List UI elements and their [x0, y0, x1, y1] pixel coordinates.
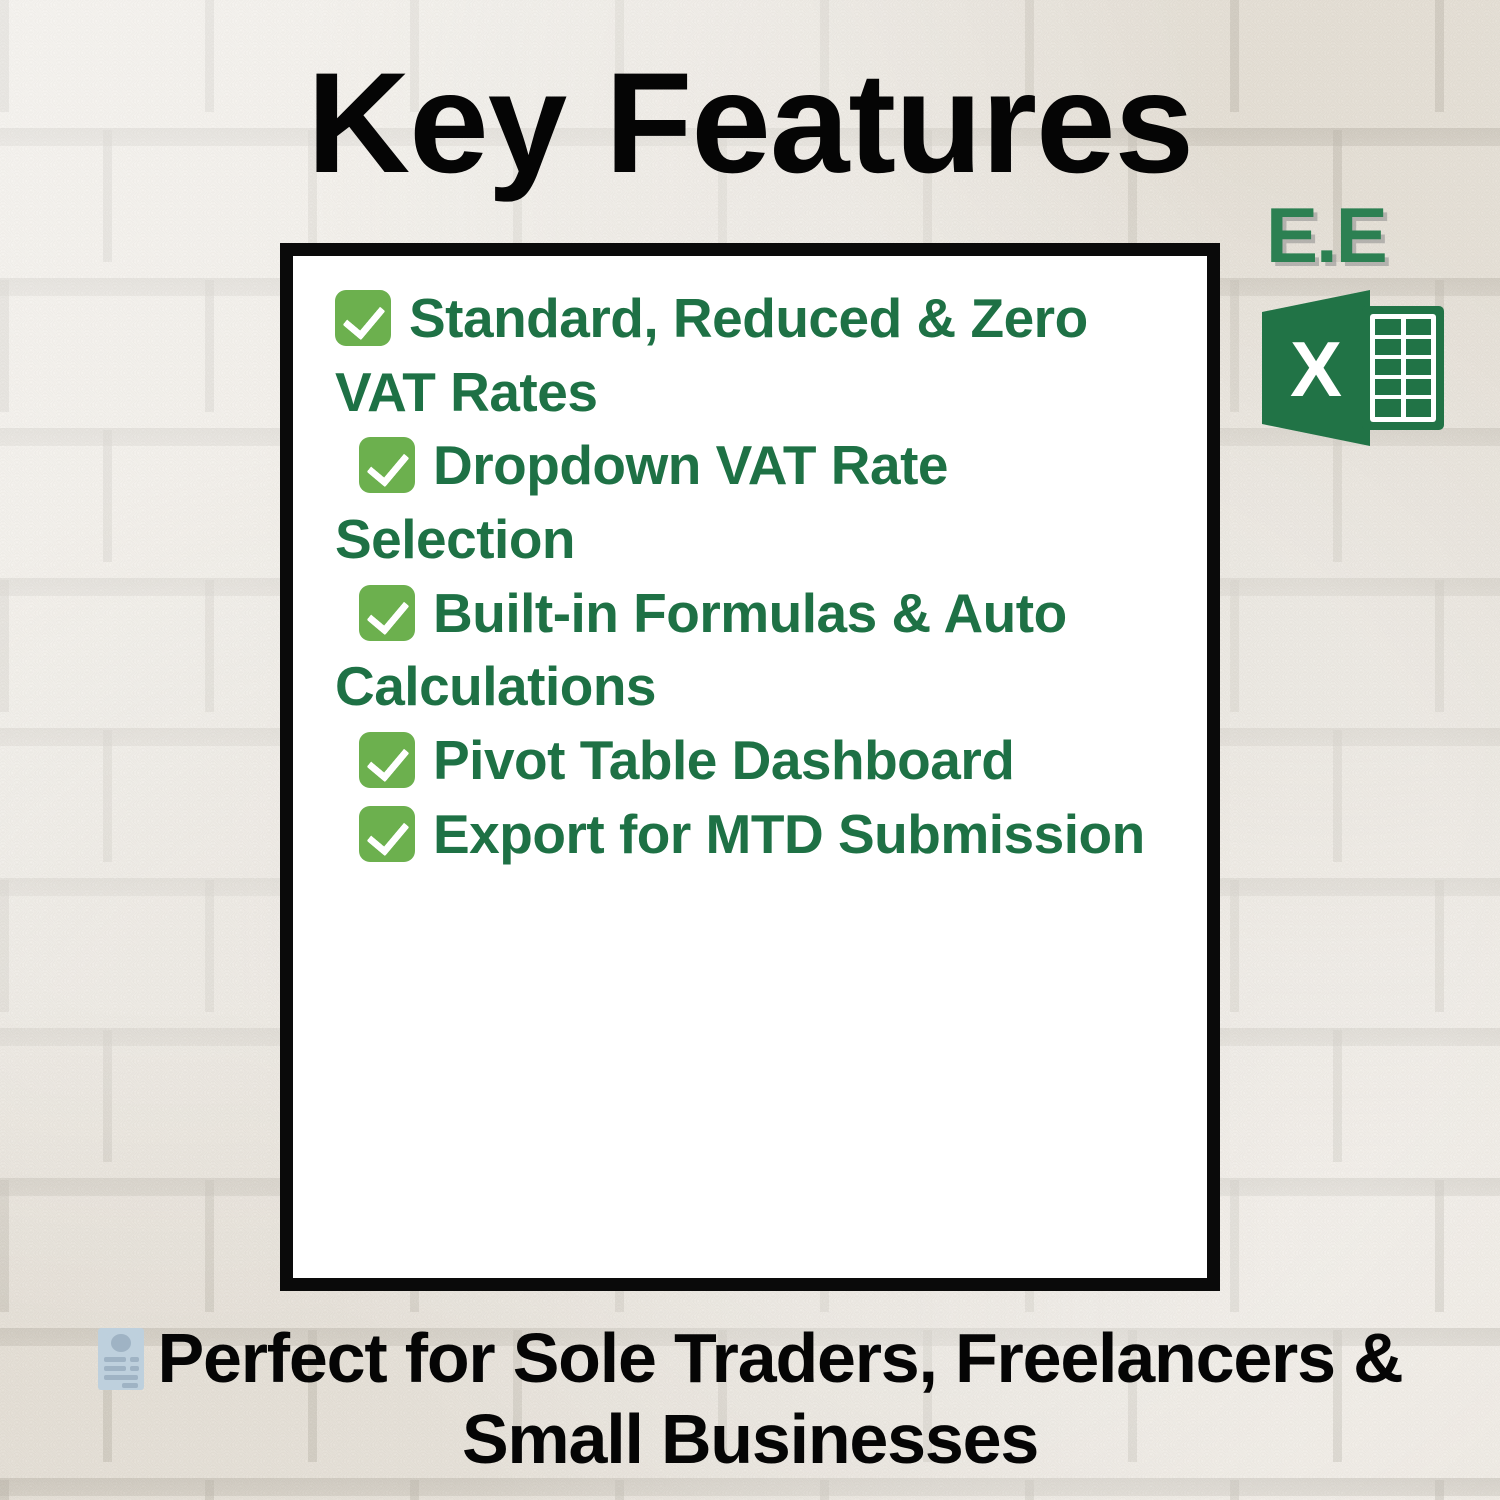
feature-item: Built-in Formulas & Auto Calculations: [335, 577, 1177, 724]
features-list: Standard, Reduced & Zero VAT RatesDropdo…: [293, 256, 1207, 872]
footer-text: Perfect for Sole Traders, Freelancers & …: [158, 1319, 1403, 1478]
feature-item-label: Standard, Reduced & Zero VAT Rates: [335, 287, 1088, 423]
check-mark-icon: [359, 585, 415, 641]
feature-item-label: Dropdown VAT Rate Selection: [335, 434, 948, 570]
check-mark-icon: [335, 290, 391, 346]
features-panel: Standard, Reduced & Zero VAT RatesDropdo…: [280, 243, 1220, 1291]
check-mark-icon: [359, 437, 415, 493]
svg-text:X: X: [1290, 325, 1342, 413]
feature-item-label: Built-in Formulas & Auto Calculations: [335, 582, 1067, 718]
footer-tagline: Perfect for Sole Traders, Freelancers & …: [0, 1318, 1500, 1480]
page-title: Key Features: [0, 52, 1500, 195]
feature-item-label: Pivot Table Dashboard: [433, 729, 1014, 791]
promo-graphic: Key Features E.E X Standard, Reduc: [0, 0, 1500, 1500]
brand-logo: E.E X: [1252, 196, 1452, 454]
feature-item: Dropdown VAT Rate Selection: [335, 429, 1177, 576]
check-mark-icon: [359, 806, 415, 862]
feature-item: Export for MTD Submission: [335, 798, 1177, 872]
check-mark-icon: [359, 732, 415, 788]
feature-item: Standard, Reduced & Zero VAT Rates: [335, 282, 1177, 429]
receipt-document-icon: [98, 1328, 144, 1390]
brand-wordmark: E.E: [1266, 196, 1386, 274]
feature-item-label: Export for MTD Submission: [433, 803, 1145, 865]
excel-icon: X: [1258, 284, 1448, 452]
feature-item: Pivot Table Dashboard: [335, 724, 1177, 798]
